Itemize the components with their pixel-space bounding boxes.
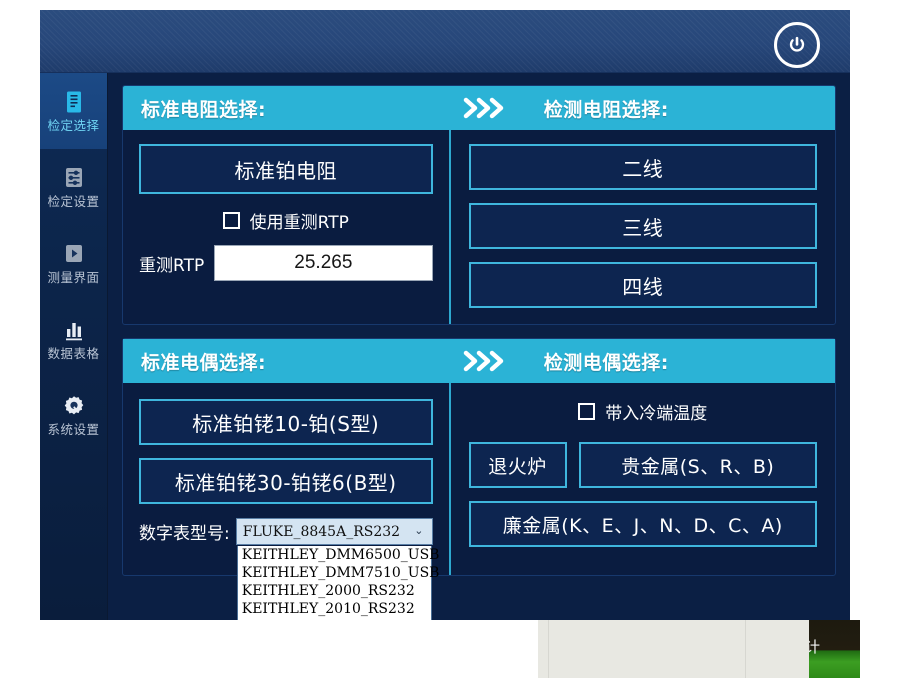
rtp-input[interactable]: 25.265 (214, 245, 432, 281)
resistance-panel-header: 标准电阻选择: 检测电阻选 (123, 86, 835, 130)
cold-junction-checkbox[interactable]: 带入冷端温度 (469, 399, 817, 424)
sidebar-item-label: 测量界面 (47, 272, 99, 285)
thermocouple-panel-header: 标准电偶选择: 检测电偶选 (123, 339, 835, 383)
rtp-field-row: 重测RTP 25.265 (139, 245, 433, 281)
sidebar-item-calibration-settings[interactable]: 检定设置 (40, 149, 107, 225)
rtp-label: 重测RTP (139, 251, 204, 276)
wallpaper-text: 计 (809, 640, 820, 655)
detect-resistance-title: 检测电阻选择: (544, 95, 669, 122)
play-icon (61, 241, 87, 267)
sliders-icon (61, 165, 87, 191)
gear-icon (61, 393, 87, 419)
standard-s-type-button[interactable]: 标准铂铑10-铂(S型) (139, 399, 433, 445)
thermocouple-panel: 标准电偶选择: 检测电偶选 (122, 338, 836, 576)
sidebar: 检定选择 检定设置 (40, 73, 108, 620)
power-icon[interactable] (774, 22, 820, 68)
application-window: 检定选择 检定设置 (40, 10, 850, 620)
bar-chart-icon (61, 317, 87, 343)
meter-model-option[interactable]: KEITHLEY_2000_RS232 (238, 582, 431, 600)
meter-model-option[interactable]: KEITHLEY_2010_RS232 (238, 600, 431, 618)
taskbar-segment (548, 620, 746, 678)
title-bar (40, 10, 850, 73)
content-area: 标准电阻选择: 检测电阻选 (108, 73, 850, 620)
resistance-panel-body: 标准铂电阻 使用重测RTP 重测RTP 25.265 二线 (123, 130, 835, 324)
detect-resistance-title-wrap: 检测电阻选择: (522, 95, 835, 122)
thermocouple-panel-body: 标准铂铑10-铂(S型) 标准铂铑30-铂铑6(B型) 数字表型号: FLUKE… (123, 383, 835, 575)
sidebar-item-label: 检定选择 (47, 120, 99, 133)
sidebar-item-label: 系统设置 (47, 424, 99, 437)
standard-resistance-title-wrap: 标准电阻选择: (123, 95, 451, 122)
meter-model-row: 数字表型号: FLUKE_8845A_RS232 ⌄ KEITHLEY_DMM6… (139, 518, 433, 545)
standard-thermocouple-column: 标准铂铑10-铂(S型) 标准铂铑30-铂铑6(B型) 数字表型号: FLUKE… (123, 383, 451, 575)
meter-model-select[interactable]: FLUKE_8845A_RS232 ⌄ KEITHLEY_DMM6500_USB… (236, 518, 433, 545)
window-body: 检定选择 检定设置 (40, 73, 850, 620)
use-remeasured-rtp-checkbox[interactable]: 使用重测RTP (139, 208, 433, 233)
sidebar-item-calibration-selection[interactable]: 检定选择 (40, 73, 107, 149)
sidebar-item-label: 检定设置 (47, 196, 99, 209)
standard-resistance-column: 标准铂电阻 使用重测RTP 重测RTP 25.265 (123, 130, 451, 324)
sidebar-item-label: 数据表格 (47, 348, 99, 361)
annealing-furnace-button[interactable]: 退火炉 (469, 442, 567, 488)
document-icon (61, 89, 87, 115)
two-wire-button[interactable]: 二线 (469, 144, 817, 190)
chevron-down-icon: ⌄ (414, 526, 425, 537)
desktop-taskbar-strip (538, 620, 810, 678)
standard-resistance-title: 标准电阻选择: (141, 95, 266, 122)
triple-chevron-right-icon (451, 350, 522, 372)
standard-platinum-resistance-button[interactable]: 标准铂电阻 (139, 144, 433, 194)
screen: 计 (0, 0, 900, 700)
use-remeasured-rtp-label: 使用重测RTP (250, 208, 349, 233)
cold-junction-label: 带入冷端温度 (605, 399, 707, 424)
four-wire-button[interactable]: 四线 (469, 262, 817, 308)
checkbox-box (223, 212, 240, 229)
standard-thermocouple-title: 标准电偶选择: (141, 348, 266, 375)
sidebar-item-data-table[interactable]: 数据表格 (40, 301, 107, 377)
resistance-panel: 标准电阻选择: 检测电阻选 (122, 85, 836, 325)
noble-metal-button[interactable]: 贵金属(S、R、B) (579, 442, 817, 488)
standard-b-type-button[interactable]: 标准铂铑30-铂铑6(B型) (139, 458, 433, 504)
checkbox-box (578, 403, 595, 420)
meter-model-value: FLUKE_8845A_RS232 (243, 524, 415, 540)
base-metal-button[interactable]: 廉金属(K、E、J、N、D、C、A) (469, 501, 817, 547)
detect-resistance-column: 二线 三线 四线 (451, 130, 835, 324)
three-wire-button[interactable]: 三线 (469, 203, 817, 249)
metal-type-button-row: 退火炉 贵金属(S、R、B) (469, 442, 817, 501)
detect-thermocouple-column: 带入冷端温度 退火炉 贵金属(S、R、B) 廉金属(K、E、J、N、D、C、A) (451, 383, 835, 575)
meter-model-option-list[interactable]: KEITHLEY_DMM6500_USBKEITHLEY_DMM7510_USB… (237, 546, 432, 620)
standard-thermocouple-title-wrap: 标准电偶选择: (123, 348, 451, 375)
meter-model-option[interactable]: AGILENT_34401A_RS232 (238, 618, 431, 620)
detect-thermocouple-title: 检测电偶选择: (544, 348, 669, 375)
meter-model-option[interactable]: KEITHLEY_DMM6500_USB (238, 546, 431, 564)
triple-chevron-right-icon (451, 97, 522, 119)
detect-thermocouple-title-wrap: 检测电偶选择: (522, 348, 835, 375)
desktop-wallpaper-fragment: 计 (809, 620, 860, 678)
sidebar-item-measurement-view[interactable]: 测量界面 (40, 225, 107, 301)
meter-model-label: 数字表型号: (139, 519, 230, 544)
meter-model-option[interactable]: KEITHLEY_DMM7510_USB (238, 564, 431, 582)
sidebar-item-system-settings[interactable]: 系统设置 (40, 377, 107, 453)
